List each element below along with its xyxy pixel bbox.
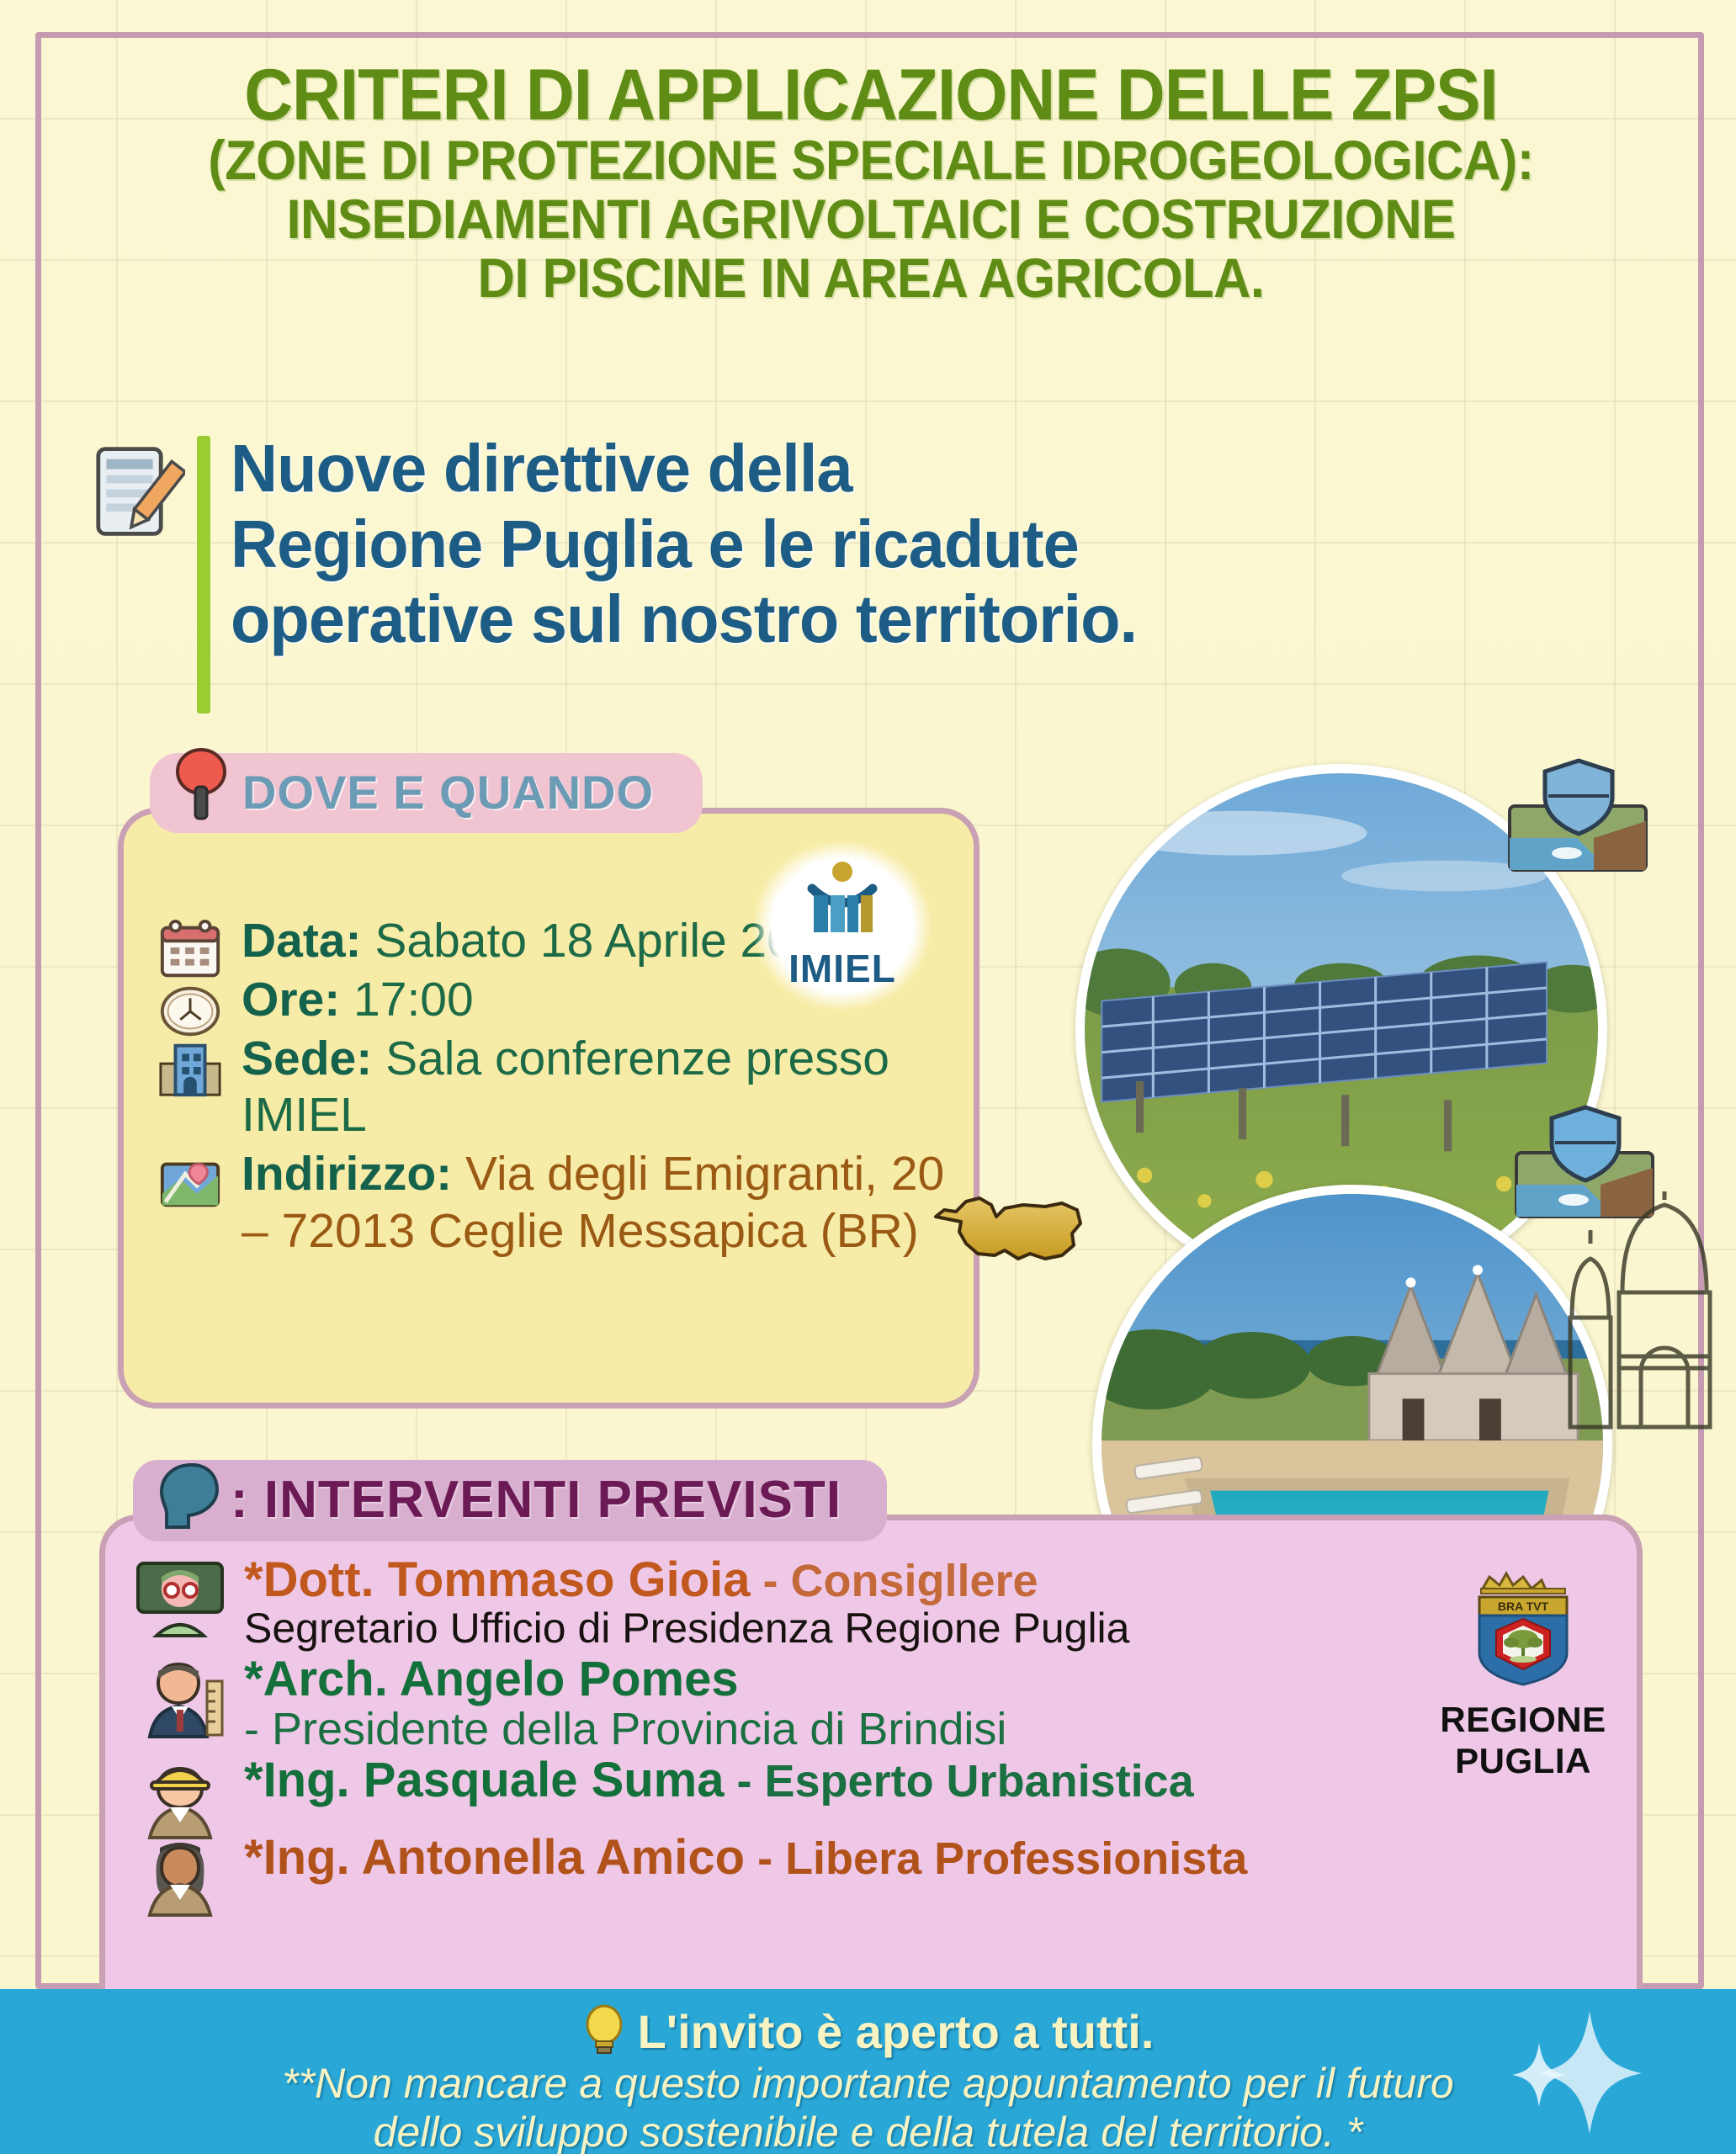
puglia-motto: BRA TVT: [1498, 1600, 1549, 1613]
map-icon: [156, 1151, 225, 1217]
imiel-logo: IMIEL: [754, 841, 931, 1010]
avatar-woman-icon: [135, 1836, 226, 1917]
subtitle-line-1: Nuove direttive della: [231, 431, 1639, 507]
trulli-line-art-icon: [1538, 1191, 1736, 1469]
imiel-mark-icon: [797, 860, 888, 944]
bottom-banner: L'invito è aperto a tutti. **Non mancare…: [0, 1989, 1736, 2154]
list-item: *Arch. Angelo Pomes - Presidente della P…: [135, 1654, 1431, 1753]
page-title: CRITERI DI APPLICAZIONE DELLE ZPSI (ZONE…: [59, 59, 1683, 308]
subtitle-block: Nuove direttive della Regione Puglia e l…: [84, 431, 1683, 714]
speaker-name: *Ing. Pasquale Suma - Esperto Urbanistic…: [244, 1755, 1431, 1806]
title-line-1: CRITERI DI APPLICAZIONE DELLE ZPSI: [116, 59, 1627, 131]
speaker-name: *Arch. Angelo Pomes: [244, 1654, 1431, 1705]
title-line-3: INSEDIAMENTI AGRIVOLTAICI E COSTRUZIONE: [116, 190, 1627, 249]
accent-bar: [197, 436, 210, 714]
speaker-role-text: - Esperto Urbanistica: [725, 1756, 1194, 1806]
detail-key-data: Data:: [242, 914, 362, 968]
speaker-role-text: - Libera Professionista: [745, 1833, 1247, 1884]
title-line-2: (ZONE DI PROTEZIONE SPECIALE IDROGEOLOGI…: [116, 131, 1627, 190]
regione-puglia-label-1: REGIONE: [1431, 1702, 1616, 1738]
head-profile-icon: [157, 1462, 222, 1531]
detail-key-ore: Ore:: [242, 973, 340, 1027]
sparkle-icon: [1509, 2009, 1643, 2135]
detail-value-ore: 17:00: [353, 973, 474, 1027]
lightbulb-icon: [582, 2004, 626, 2056]
speakers-badge-label: : INTERVENTI PREVISTI: [231, 1471, 841, 1529]
banner-headline: L'invito è aperto a tutti.: [0, 2004, 1736, 2059]
speaker-name-text: *Dott. Tommaso Gioia: [244, 1552, 751, 1607]
detail-row-indirizzo: Indirizzo: Via degli Emigranti, 20 – 720…: [149, 1146, 948, 1260]
speaker-name: *Ing. Antonella Amico - Libera Professio…: [244, 1833, 1431, 1883]
avatar-glasses-icon: [135, 1558, 226, 1639]
banner-headline-text: L'invito è aperto a tutti.: [638, 2005, 1155, 2058]
speakers-list: *Dott. Tommaso Gioia - Consigllere Segre…: [135, 1555, 1431, 1905]
speaker-role-text: - Presidente della Provincia di Brindisi: [244, 1706, 1431, 1753]
banner-line-2: **Non mancare a questo importante appunt…: [0, 2059, 1736, 2108]
speaker-name: *Dott. Tommaso Gioia - Consigllere: [244, 1555, 1431, 1605]
list-item: *Ing. Antonella Amico - Libera Professio…: [135, 1833, 1431, 1905]
puglia-coat-of-arms-icon: BRA TVT: [1456, 1567, 1590, 1693]
speaker-name-text: *Ing. Pasquale Suma: [244, 1753, 725, 1807]
regione-puglia-label-2: PUGLIA: [1431, 1743, 1616, 1780]
notepad-pencil-icon: [84, 441, 185, 542]
list-item: *Ing. Pasquale Suma - Esperto Urbanistic…: [135, 1755, 1431, 1828]
where-when-badge-label: DOVE E QUANDO: [242, 765, 654, 820]
avatar-engineer-icon: [135, 1759, 226, 1839]
detail-row-sede: Sede: Sala conferenze presso IMIEL: [149, 1031, 948, 1145]
speaker-name-text: *Arch. Angelo Pomes: [244, 1652, 739, 1706]
location-pin-icon: [170, 748, 232, 820]
detail-key-indirizzo: Indirizzo:: [242, 1147, 452, 1201]
speaker-name-text: *Ing. Antonella Amico: [244, 1830, 745, 1885]
subtitle-line-3: operative sul nostro territorio.: [231, 581, 1639, 657]
detail-key-sede: Sede:: [242, 1032, 372, 1085]
speaker-subtitle: Segretario Ufficio di Presidenza Regione…: [244, 1605, 1431, 1651]
aquifer-shield-icon: [1506, 757, 1649, 875]
imiel-label: IMIEL: [788, 946, 896, 991]
title-line-4: DI PISCINE IN AREA AGRICOLA.: [116, 249, 1627, 308]
where-when-badge: DOVE E QUANDO: [150, 753, 703, 833]
avatar-architect-icon: [135, 1658, 226, 1738]
banner-line-3: dello sviluppo sostenibile e della tutel…: [0, 2108, 1736, 2154]
regione-puglia-logo: BRA TVT REGIONE PUGLIA: [1431, 1567, 1616, 1780]
subtitle-text: Nuove direttive della Regione Puglia e l…: [231, 431, 1639, 657]
subtitle-line-2: Regione Puglia e le ricadute: [231, 507, 1639, 582]
speaker-role-text: - Consigllere: [751, 1556, 1038, 1606]
list-item: *Dott. Tommaso Gioia - Consigllere Segre…: [135, 1555, 1431, 1651]
puglia-territory-shape-icon: [922, 1185, 1107, 1286]
speakers-badge: : INTERVENTI PREVISTI: [133, 1460, 887, 1541]
building-icon: [156, 1036, 225, 1101]
